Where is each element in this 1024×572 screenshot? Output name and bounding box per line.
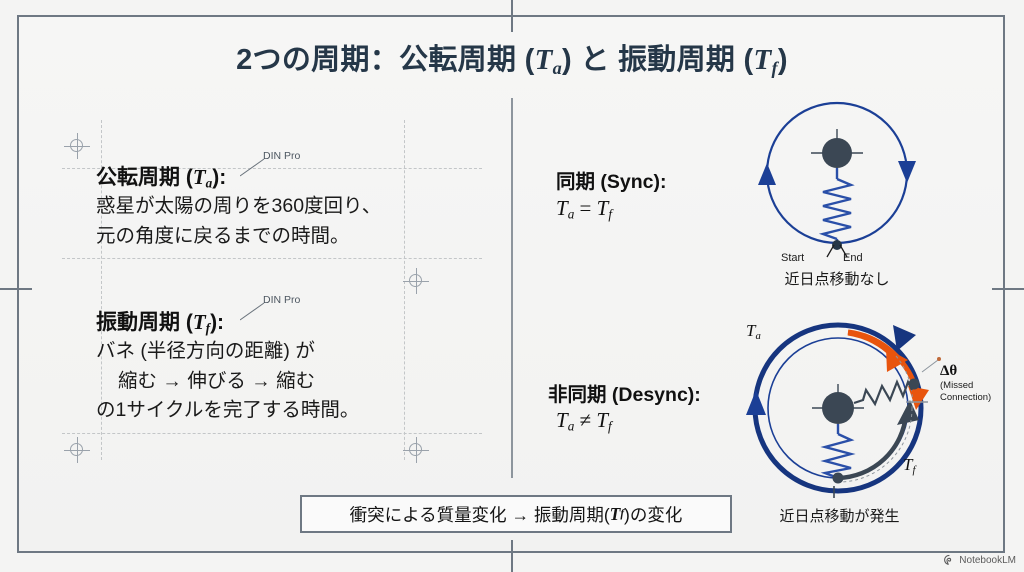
definition-heading-vibration: 振動周期 (Tf): bbox=[96, 309, 359, 337]
orbital-heading-post: ): bbox=[212, 166, 226, 189]
registration-mark-top-left bbox=[64, 133, 90, 159]
page-title-ta: T bbox=[535, 44, 553, 76]
definition-line: 元の角度に戻るまでの時間。 bbox=[96, 222, 381, 252]
sync-eq-lhs: T bbox=[556, 196, 568, 220]
column-divider bbox=[511, 98, 513, 478]
definition-block-vibration: 振動周期 (Tf): バネ (半径方向の距離) が 縮む → 伸びる → 縮む … bbox=[96, 309, 359, 426]
page-title-part-a: 2つの周期：公転周期 ( bbox=[236, 44, 534, 76]
desync-delta-theta-leader-dot bbox=[937, 357, 941, 361]
desync-satellite-dot-lower bbox=[833, 473, 844, 484]
definition-line: の1サイクルを完了する時間。 bbox=[96, 396, 359, 426]
sync-spring bbox=[823, 168, 851, 247]
notebooklm-icon bbox=[943, 554, 955, 566]
registration-mark-bottom-right bbox=[403, 437, 429, 463]
definition-line: 縮む → 伸びる → 縮む bbox=[96, 367, 359, 397]
sync-eq-rhs-sub: f bbox=[608, 207, 612, 222]
summary-statement-pre: 衝突による質量変化 → 振動周期( bbox=[350, 502, 610, 527]
vibration-heading-post: ): bbox=[210, 311, 224, 334]
sync-end-label: End bbox=[843, 252, 863, 264]
delta-theta-note-line-2: Connection) bbox=[940, 392, 991, 403]
sync-start-label: Start bbox=[781, 252, 804, 264]
delta-theta-note-line-1: (Missed bbox=[940, 380, 973, 391]
sync-eq-op: = bbox=[580, 196, 592, 220]
sync-arrow-right bbox=[898, 161, 916, 183]
font-annotation-orbital: DIN Pro bbox=[263, 150, 300, 162]
desync-outer-arrow-left bbox=[746, 390, 766, 415]
desync-delta-theta-leader bbox=[922, 360, 938, 372]
desync-label-ta-sub: a bbox=[755, 330, 760, 342]
desync-caption: 近日点移動が発生 bbox=[737, 505, 942, 526]
desync-heading: 非同期 (Desync): bbox=[548, 378, 701, 407]
orbital-heading-pre: 公転周期 ( bbox=[96, 166, 193, 189]
desync-planet-body bbox=[822, 392, 854, 424]
desync-eq-rhs-sub: f bbox=[608, 419, 612, 434]
frame-tick-top bbox=[511, 0, 513, 32]
guide-horizontal-3 bbox=[62, 433, 482, 434]
sync-eq-rhs: T bbox=[597, 196, 609, 220]
desync-label-ta: Ta bbox=[746, 321, 761, 342]
delta-theta-label: Δθ bbox=[940, 363, 957, 380]
definition-line: バネ (半径方向の距離) が bbox=[96, 337, 359, 367]
guide-horizontal-2 bbox=[62, 258, 482, 259]
definition-block-orbital: 公転周期 (Ta): 惑星が太陽の周りを360度回り、 元の角度に戻るまでの時間… bbox=[96, 164, 381, 251]
font-annotation-leader-line-vibration bbox=[240, 301, 266, 321]
sync-planet-body bbox=[822, 138, 852, 168]
page-title-ta-sub: a bbox=[553, 58, 562, 78]
registration-mark-middle-right bbox=[403, 268, 429, 294]
summary-statement-post: )の変化 bbox=[624, 502, 682, 527]
page-title-part-b: ) と 振動周期 ( bbox=[562, 44, 754, 76]
definition-heading-orbital: 公転周期 (Ta): bbox=[96, 164, 381, 192]
orbital-heading-var: T bbox=[193, 165, 206, 189]
desync-label-tf: Tf bbox=[903, 455, 915, 476]
slide-root: 2つの周期：公転周期 (Ta) と 振動周期 (Tf) 公転周期 (Ta): 惑… bbox=[0, 0, 1024, 572]
vibration-heading-var: T bbox=[193, 310, 206, 334]
sync-caption: 近日点移動なし bbox=[737, 268, 937, 289]
sync-arrow-left bbox=[758, 163, 776, 185]
desync-satellite-dot-upper bbox=[909, 379, 920, 390]
desync-eq-lhs: T bbox=[556, 408, 568, 432]
desync-spring-vertical bbox=[825, 424, 851, 478]
desync-label-tf-sub: f bbox=[912, 464, 915, 476]
sync-orbit-diagram bbox=[735, 95, 940, 270]
desync-equation: Ta ≠ Tf bbox=[556, 408, 612, 435]
registration-mark-bottom-left bbox=[64, 437, 90, 463]
page-title-tf: T bbox=[754, 44, 772, 76]
definition-line: 惑星が太陽の周りを360度回り、 bbox=[96, 192, 381, 222]
notebooklm-watermark-label: NotebookLM bbox=[959, 555, 1016, 566]
sync-start-tick bbox=[827, 245, 834, 257]
sync-eq-lhs-sub: a bbox=[568, 207, 575, 222]
desync-spring-diagonal bbox=[854, 382, 912, 404]
page-title-part-c: ) bbox=[778, 44, 788, 76]
desync-outer-arrow-top bbox=[893, 325, 916, 351]
desync-eq-lhs-sub: a bbox=[568, 419, 575, 434]
desync-orbit-diagram bbox=[730, 310, 960, 505]
frame-tick-left bbox=[0, 288, 32, 290]
summary-statement-var: T bbox=[610, 504, 621, 525]
sync-heading: 同期 (Sync): bbox=[556, 165, 667, 194]
desync-eq-rhs: T bbox=[596, 408, 608, 432]
notebooklm-watermark: NotebookLM bbox=[943, 554, 1016, 566]
font-annotation-leader-line-orbital bbox=[240, 157, 266, 177]
page-title: 2つの周期：公転周期 (Ta) と 振動周期 (Tf) bbox=[0, 36, 1024, 79]
font-annotation-vibration: DIN Pro bbox=[263, 294, 300, 306]
vibration-heading-pre: 振動周期 ( bbox=[96, 311, 193, 334]
desync-eq-op: ≠ bbox=[580, 408, 592, 432]
sync-equation: Ta = Tf bbox=[556, 196, 612, 223]
summary-statement-box: 衝突による質量変化 → 振動周期(Tf)の変化 bbox=[300, 495, 732, 533]
frame-tick-right bbox=[992, 288, 1024, 290]
frame-tick-bottom bbox=[511, 540, 513, 572]
